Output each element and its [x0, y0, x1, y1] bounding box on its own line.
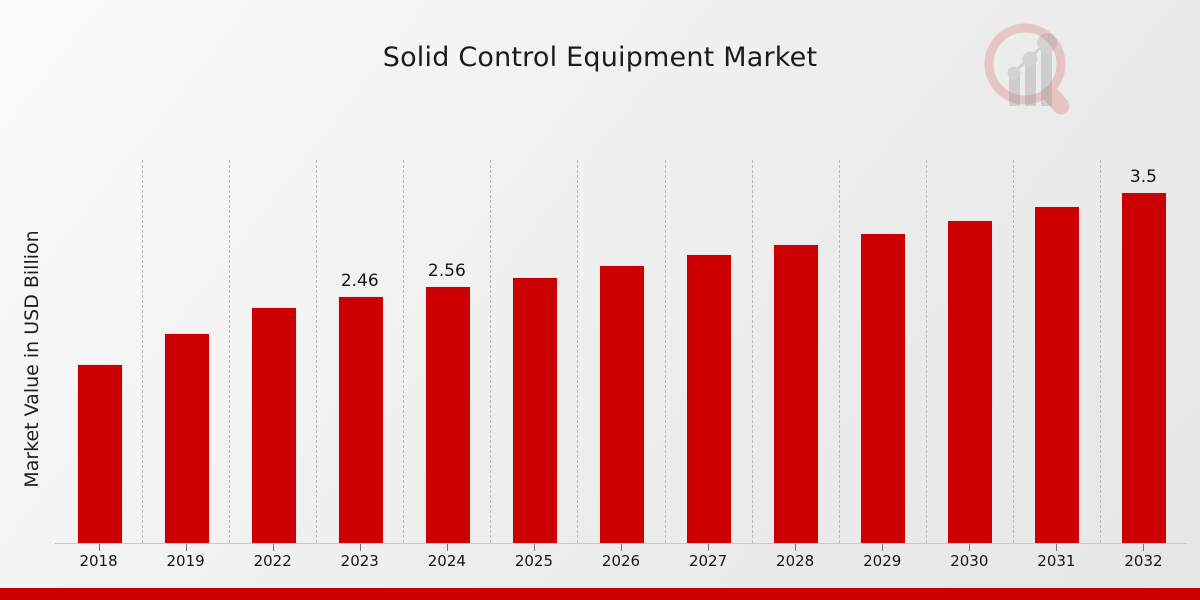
gridline-vertical — [316, 160, 317, 543]
bar[interactable] — [599, 265, 645, 543]
gridline-vertical — [403, 160, 404, 543]
bar[interactable] — [164, 333, 210, 543]
x-axis-tick-label: 2019 — [151, 552, 221, 570]
gridline-vertical — [142, 160, 143, 543]
footer-accent-band — [0, 588, 1200, 600]
x-axis-tick — [447, 544, 448, 551]
x-axis-tick — [273, 544, 274, 551]
bar[interactable] — [773, 244, 819, 543]
magnifier-bar-chart-logo-icon — [975, 18, 1085, 120]
bar[interactable] — [1121, 192, 1167, 543]
x-axis-tick-label: 2027 — [673, 552, 743, 570]
x-axis-tick — [534, 544, 535, 551]
x-axis-tick — [186, 544, 187, 551]
bar-value-label: 2.56 — [412, 261, 482, 281]
x-axis-tick — [969, 544, 970, 551]
x-axis-tick — [1143, 544, 1144, 551]
gridline-vertical — [665, 160, 666, 543]
x-axis-tick-label: 2028 — [760, 552, 830, 570]
gridline-vertical — [577, 160, 578, 543]
x-axis-tick — [1056, 544, 1057, 551]
x-axis-tick-label: 2030 — [934, 552, 1004, 570]
x-axis-tick-label: 2026 — [586, 552, 656, 570]
plot-area — [55, 160, 1187, 543]
gridline-vertical — [1100, 160, 1101, 543]
bar[interactable] — [77, 364, 123, 543]
gridline-vertical — [839, 160, 840, 543]
x-axis-tick — [708, 544, 709, 551]
x-axis-tick-label: 2029 — [847, 552, 917, 570]
x-axis-tick-label: 2018 — [64, 552, 134, 570]
x-axis-tick-label: 2032 — [1108, 552, 1178, 570]
bar[interactable] — [425, 286, 471, 543]
x-axis-tick-label: 2023 — [325, 552, 395, 570]
bar[interactable] — [947, 220, 993, 543]
gridline-vertical — [926, 160, 927, 543]
x-axis-tick — [360, 544, 361, 551]
x-axis-tick — [795, 544, 796, 551]
bar[interactable] — [338, 296, 384, 543]
gridline-vertical — [490, 160, 491, 543]
x-axis-tick-label: 2022 — [238, 552, 308, 570]
x-axis-tick — [621, 544, 622, 551]
gridline-vertical — [229, 160, 230, 543]
gridline-vertical — [752, 160, 753, 543]
x-axis-tick — [882, 544, 883, 551]
chart-container: Solid Control Equipment Market Market Va… — [0, 0, 1200, 600]
x-axis-tick-label: 2025 — [499, 552, 569, 570]
bar-value-label: 3.5 — [1108, 167, 1178, 187]
bar[interactable] — [686, 254, 732, 543]
y-axis-label: Market Value in USD Billion — [21, 99, 43, 600]
bar[interactable] — [512, 277, 558, 543]
x-axis-tick-label: 2024 — [412, 552, 482, 570]
gridline-vertical — [1013, 160, 1014, 543]
x-axis-tick-label: 2031 — [1021, 552, 1091, 570]
bar[interactable] — [860, 233, 906, 543]
bar[interactable] — [251, 307, 297, 543]
bar[interactable] — [1034, 206, 1080, 543]
bar-value-label: 2.46 — [325, 271, 395, 291]
x-axis-tick — [99, 544, 100, 551]
